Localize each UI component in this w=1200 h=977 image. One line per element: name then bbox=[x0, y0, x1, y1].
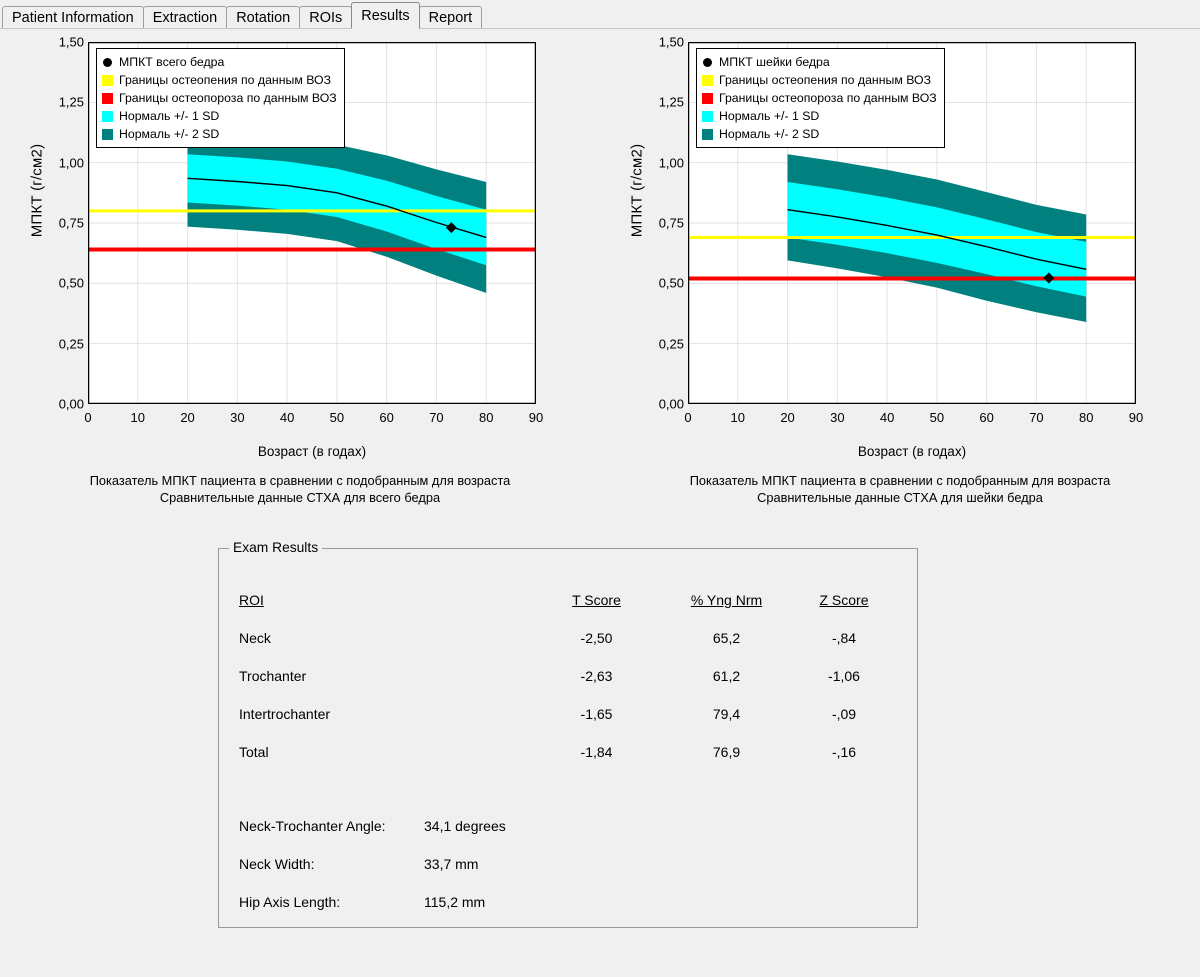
tab-label: ROIs bbox=[309, 10, 342, 26]
chart-caption: Показатель МПКТ пациента в сравнении с п… bbox=[0, 472, 600, 506]
legend-square-icon bbox=[702, 129, 713, 140]
y-tick-label: 0,00 bbox=[640, 397, 684, 412]
measurement-label: Hip Axis Length: bbox=[239, 894, 424, 910]
cell-roi: Intertrochanter bbox=[239, 695, 529, 733]
measurement-row: Neck Width:33,7 mm bbox=[239, 845, 899, 883]
chart-y-ticks: 0,000,250,500,751,001,251,50 bbox=[636, 42, 684, 404]
legend-item-label: Границы остеопения по данным ВОЗ bbox=[119, 73, 331, 87]
x-tick-label: 80 bbox=[479, 410, 493, 425]
legend-item-label: МПКТ шейки бедра bbox=[719, 55, 830, 69]
cell-z-score: -,84 bbox=[789, 619, 899, 657]
chart-plot-area: МПКТ шейки бедраГраницы остеопения по да… bbox=[688, 42, 1136, 404]
x-tick-label: 90 bbox=[1129, 410, 1143, 425]
tab-label: Results bbox=[361, 8, 409, 24]
cell-z-score: -,09 bbox=[789, 695, 899, 733]
chart-plot-area: МПКТ всего бедраГраницы остеопения по да… bbox=[88, 42, 536, 404]
x-tick-label: 20 bbox=[780, 410, 794, 425]
x-tick-label: 50 bbox=[330, 410, 344, 425]
cell-yng-nrm: 65,2 bbox=[664, 619, 789, 657]
exam-results-group: Exam Results ROI T Score % Yng Nrm Z Sco… bbox=[218, 548, 918, 928]
measurements-list: Neck-Trochanter Angle:34,1 degreesNeck W… bbox=[239, 807, 899, 921]
chart-x-ticks: 0102030405060708090 bbox=[688, 410, 1136, 430]
legend-square-icon bbox=[702, 93, 713, 104]
legend-item: Границы остеопороза по данным ВОЗ bbox=[702, 89, 937, 107]
x-tick-label: 60 bbox=[979, 410, 993, 425]
y-tick-label: 1,25 bbox=[640, 95, 684, 110]
legend-item: Границы остеопения по данным ВОЗ bbox=[102, 71, 337, 89]
table-row: Total-1,8476,9-,16 bbox=[239, 733, 899, 771]
legend-dot-icon bbox=[103, 58, 112, 67]
legend-item-label: Границы остеопороза по данным ВОЗ bbox=[119, 91, 337, 105]
chart-y-ticks: 0,000,250,500,751,001,251,50 bbox=[36, 42, 84, 404]
y-tick-label: 1,00 bbox=[40, 155, 84, 170]
tab-rotation[interactable]: Rotation bbox=[226, 6, 300, 29]
cell-yng-nrm: 79,4 bbox=[664, 695, 789, 733]
chart-caption-line1: Показатель МПКТ пациента в сравнении с п… bbox=[0, 472, 600, 489]
legend-item: Нормаль +/- 2 SD bbox=[102, 125, 337, 143]
chart-femoral-neck: МПКТ (г/см2) 0,000,250,500,751,001,251,5… bbox=[600, 32, 1200, 502]
tab-bar: Patient InformationExtractionRotationROI… bbox=[0, 0, 1200, 30]
chart-caption-line1: Показатель МПКТ пациента в сравнении с п… bbox=[600, 472, 1200, 489]
measurement-row: Hip Axis Length:115,2 mm bbox=[239, 883, 899, 921]
measurement-value: 33,7 mm bbox=[424, 856, 624, 872]
tab-strip: Patient InformationExtractionRotationROI… bbox=[0, 0, 1200, 29]
tab-rois[interactable]: ROIs bbox=[299, 6, 352, 29]
results-page: Patient InformationExtractionRotationROI… bbox=[0, 0, 1200, 977]
cell-t-score: -1,84 bbox=[529, 733, 664, 771]
measurement-label: Neck-Trochanter Angle: bbox=[239, 818, 424, 834]
column-header-yng-nrm: % Yng Nrm bbox=[664, 581, 789, 619]
column-header-t-score: T Score bbox=[529, 581, 664, 619]
tab-results[interactable]: Results bbox=[351, 2, 419, 29]
cell-roi: Total bbox=[239, 733, 529, 771]
x-tick-label: 10 bbox=[731, 410, 745, 425]
x-tick-label: 60 bbox=[379, 410, 393, 425]
legend-square-icon bbox=[102, 129, 113, 140]
legend-item-label: Границы остеопороза по данным ВОЗ bbox=[719, 91, 937, 105]
chart-caption-line2: Сравнительные данные СТХА для всего бедр… bbox=[0, 489, 600, 506]
legend-item-label: МПКТ всего бедра bbox=[119, 55, 224, 69]
chart-caption: Показатель МПКТ пациента в сравнении с п… bbox=[600, 472, 1200, 506]
legend-square-icon bbox=[102, 75, 113, 86]
x-tick-label: 10 bbox=[131, 410, 145, 425]
x-tick-label: 40 bbox=[280, 410, 294, 425]
cell-t-score: -2,63 bbox=[529, 657, 664, 695]
x-tick-label: 0 bbox=[684, 410, 691, 425]
tab-label: Extraction bbox=[153, 10, 217, 26]
y-tick-label: 0,00 bbox=[40, 397, 84, 412]
y-tick-label: 1,50 bbox=[40, 35, 84, 50]
cell-yng-nrm: 61,2 bbox=[664, 657, 789, 695]
tab-label: Report bbox=[429, 10, 473, 26]
chart-x-axis-label: Возраст (в годах) bbox=[688, 444, 1136, 459]
legend-item: Нормаль +/- 2 SD bbox=[702, 125, 937, 143]
exam-results-title: Exam Results bbox=[229, 540, 322, 555]
y-tick-label: 0,25 bbox=[40, 336, 84, 351]
x-tick-label: 30 bbox=[230, 410, 244, 425]
cell-t-score: -2,50 bbox=[529, 619, 664, 657]
charts-region: МПКТ (г/см2) 0,000,250,500,751,001,251,5… bbox=[0, 32, 1200, 502]
column-header-z-score: Z Score bbox=[789, 581, 899, 619]
tab-underline bbox=[0, 28, 1200, 29]
chart-caption-line2: Сравнительные данные СТХА для шейки бедр… bbox=[600, 489, 1200, 506]
exam-results-table: ROI T Score % Yng Nrm Z Score Neck-2,506… bbox=[239, 581, 899, 771]
legend-square-icon bbox=[102, 111, 113, 122]
legend-item: Границы остеопения по данным ВОЗ bbox=[702, 71, 937, 89]
y-tick-label: 0,50 bbox=[40, 276, 84, 291]
cell-z-score: -1,06 bbox=[789, 657, 899, 695]
chart-total-hip: МПКТ (г/см2) 0,000,250,500,751,001,251,5… bbox=[0, 32, 600, 502]
table-row: Neck-2,5065,2-,84 bbox=[239, 619, 899, 657]
measurement-row: Neck-Trochanter Angle:34,1 degrees bbox=[239, 807, 899, 845]
x-tick-label: 0 bbox=[84, 410, 91, 425]
y-tick-label: 1,25 bbox=[40, 95, 84, 110]
x-tick-label: 90 bbox=[529, 410, 543, 425]
legend-item: Нормаль +/- 1 SD bbox=[702, 107, 937, 125]
x-tick-label: 20 bbox=[180, 410, 194, 425]
legend-item-label: Границы остеопения по данным ВОЗ bbox=[719, 73, 931, 87]
x-tick-label: 80 bbox=[1079, 410, 1093, 425]
x-tick-label: 30 bbox=[830, 410, 844, 425]
legend-square-icon bbox=[702, 75, 713, 86]
measurement-value: 34,1 degrees bbox=[424, 818, 624, 834]
legend-item-label: Нормаль +/- 2 SD bbox=[119, 127, 219, 141]
legend-item-label: Нормаль +/- 1 SD bbox=[719, 109, 819, 123]
x-tick-label: 70 bbox=[429, 410, 443, 425]
legend-square-icon bbox=[702, 111, 713, 122]
tab-report[interactable]: Report bbox=[419, 6, 483, 29]
tab-extraction[interactable]: Extraction bbox=[143, 6, 227, 29]
legend-dot-icon bbox=[703, 58, 712, 67]
legend-item-label: Нормаль +/- 1 SD bbox=[119, 109, 219, 123]
cell-roi: Trochanter bbox=[239, 657, 529, 695]
cell-z-score: -,16 bbox=[789, 733, 899, 771]
x-tick-label: 70 bbox=[1029, 410, 1043, 425]
legend-item: МПКТ шейки бедра bbox=[702, 53, 937, 71]
cell-roi: Neck bbox=[239, 619, 529, 657]
tab-patient-information[interactable]: Patient Information bbox=[2, 6, 144, 29]
legend-item-label: Нормаль +/- 2 SD bbox=[719, 127, 819, 141]
table-row: Trochanter-2,6361,2-1,06 bbox=[239, 657, 899, 695]
y-tick-label: 0,50 bbox=[640, 276, 684, 291]
y-tick-label: 0,25 bbox=[640, 336, 684, 351]
table-row: Intertrochanter-1,6579,4-,09 bbox=[239, 695, 899, 733]
measurement-label: Neck Width: bbox=[239, 856, 424, 872]
x-tick-label: 40 bbox=[880, 410, 894, 425]
legend-square-icon bbox=[102, 93, 113, 104]
tab-label: Patient Information bbox=[12, 10, 134, 26]
chart-x-axis-label: Возраст (в годах) bbox=[88, 444, 536, 459]
legend-item: Границы остеопороза по данным ВОЗ bbox=[102, 89, 337, 107]
cell-t-score: -1,65 bbox=[529, 695, 664, 733]
measurement-value: 115,2 mm bbox=[424, 894, 624, 910]
y-tick-label: 0,75 bbox=[40, 216, 84, 231]
y-tick-label: 1,50 bbox=[640, 35, 684, 50]
table-header-row: ROI T Score % Yng Nrm Z Score bbox=[239, 581, 899, 619]
legend-item: Нормаль +/- 1 SD bbox=[102, 107, 337, 125]
column-header-roi: ROI bbox=[239, 581, 529, 619]
y-tick-label: 0,75 bbox=[640, 216, 684, 231]
table-body: Neck-2,5065,2-,84Trochanter-2,6361,2-1,0… bbox=[239, 619, 899, 771]
x-tick-label: 50 bbox=[930, 410, 944, 425]
chart-legend: МПКТ всего бедраГраницы остеопения по да… bbox=[96, 48, 345, 148]
chart-legend: МПКТ шейки бедраГраницы остеопения по да… bbox=[696, 48, 945, 148]
cell-yng-nrm: 76,9 bbox=[664, 733, 789, 771]
chart-x-ticks: 0102030405060708090 bbox=[88, 410, 536, 430]
y-tick-label: 1,00 bbox=[640, 155, 684, 170]
legend-item: МПКТ всего бедра bbox=[102, 53, 337, 71]
tab-label: Rotation bbox=[236, 10, 290, 26]
